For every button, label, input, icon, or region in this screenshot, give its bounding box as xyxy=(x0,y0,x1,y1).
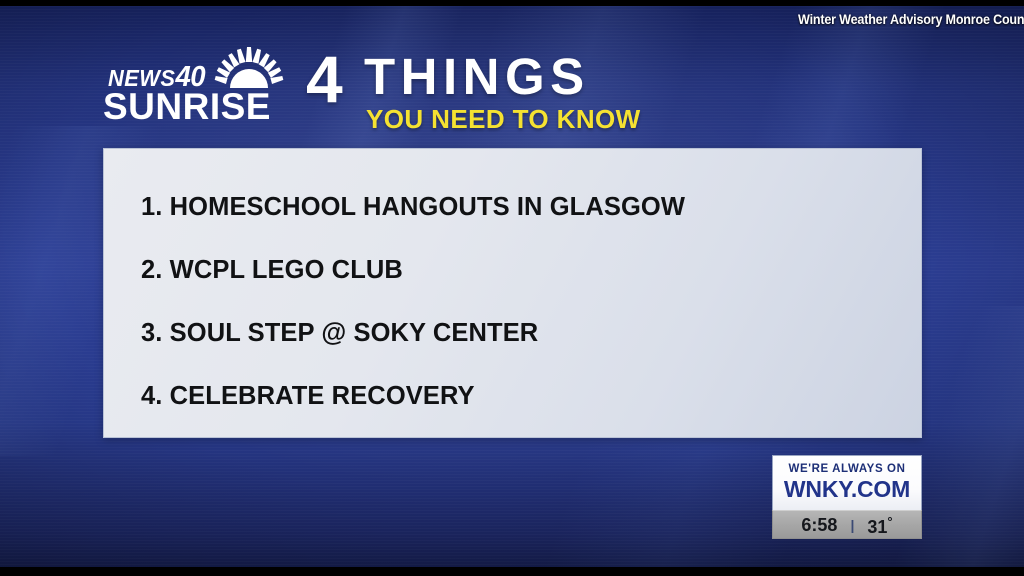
time-temp-bar: 6:58 | 31° xyxy=(772,510,922,539)
letterbox-bottom xyxy=(0,567,1024,576)
promo-kicker: WE'RE ALWAYS ON xyxy=(773,463,921,476)
header: NEWS40 SUNRISE xyxy=(98,45,698,137)
temperature-value: 31 xyxy=(867,517,887,537)
ticker-text: Winter Weather Advisory Monroe Coun xyxy=(798,12,1024,27)
headline-subtitle: YOU NEED TO KNOW xyxy=(366,106,641,132)
list-item: 3. SOUL STEP @ SOKY CENTER xyxy=(141,301,903,364)
content-panel: 1. HOMESCHOOL HANGOUTS IN GLASGOW 2. WCP… xyxy=(103,148,922,438)
headline-count: 4 xyxy=(306,46,343,112)
things-list: 1. HOMESCHOOL HANGOUTS IN GLASGOW 2. WCP… xyxy=(141,175,903,427)
letterbox-top xyxy=(0,0,1024,6)
station-logo: NEWS40 SUNRISE xyxy=(98,50,298,132)
temperature-reading: 31° xyxy=(867,513,892,536)
list-item: 1. HOMESCHOOL HANGOUTS IN GLASGOW xyxy=(141,175,903,238)
website-promo: WE'RE ALWAYS ON WNKY.COM xyxy=(772,455,922,510)
degree-symbol: ° xyxy=(887,514,892,529)
headline-block: 4 THINGS YOU NEED TO KNOW xyxy=(306,45,696,137)
clock-time: 6:58 xyxy=(801,516,837,534)
promo-domain: WNKY.COM xyxy=(773,477,921,502)
logo-sunrise-text: SUNRISE xyxy=(103,86,271,128)
bar-separator: | xyxy=(850,517,854,533)
list-item: 2. WCPL LEGO CLUB xyxy=(141,238,903,301)
station-bug: WE'RE ALWAYS ON WNKY.COM 6:58 | 31° xyxy=(772,455,922,539)
headline-main: THINGS xyxy=(364,51,590,102)
broadcast-screen: Winter Weather Advisory Monroe Coun NEWS… xyxy=(0,0,1024,576)
list-item: 4. CELEBRATE RECOVERY xyxy=(141,364,903,427)
weather-alert-ticker: Winter Weather Advisory Monroe Coun xyxy=(781,8,1024,30)
